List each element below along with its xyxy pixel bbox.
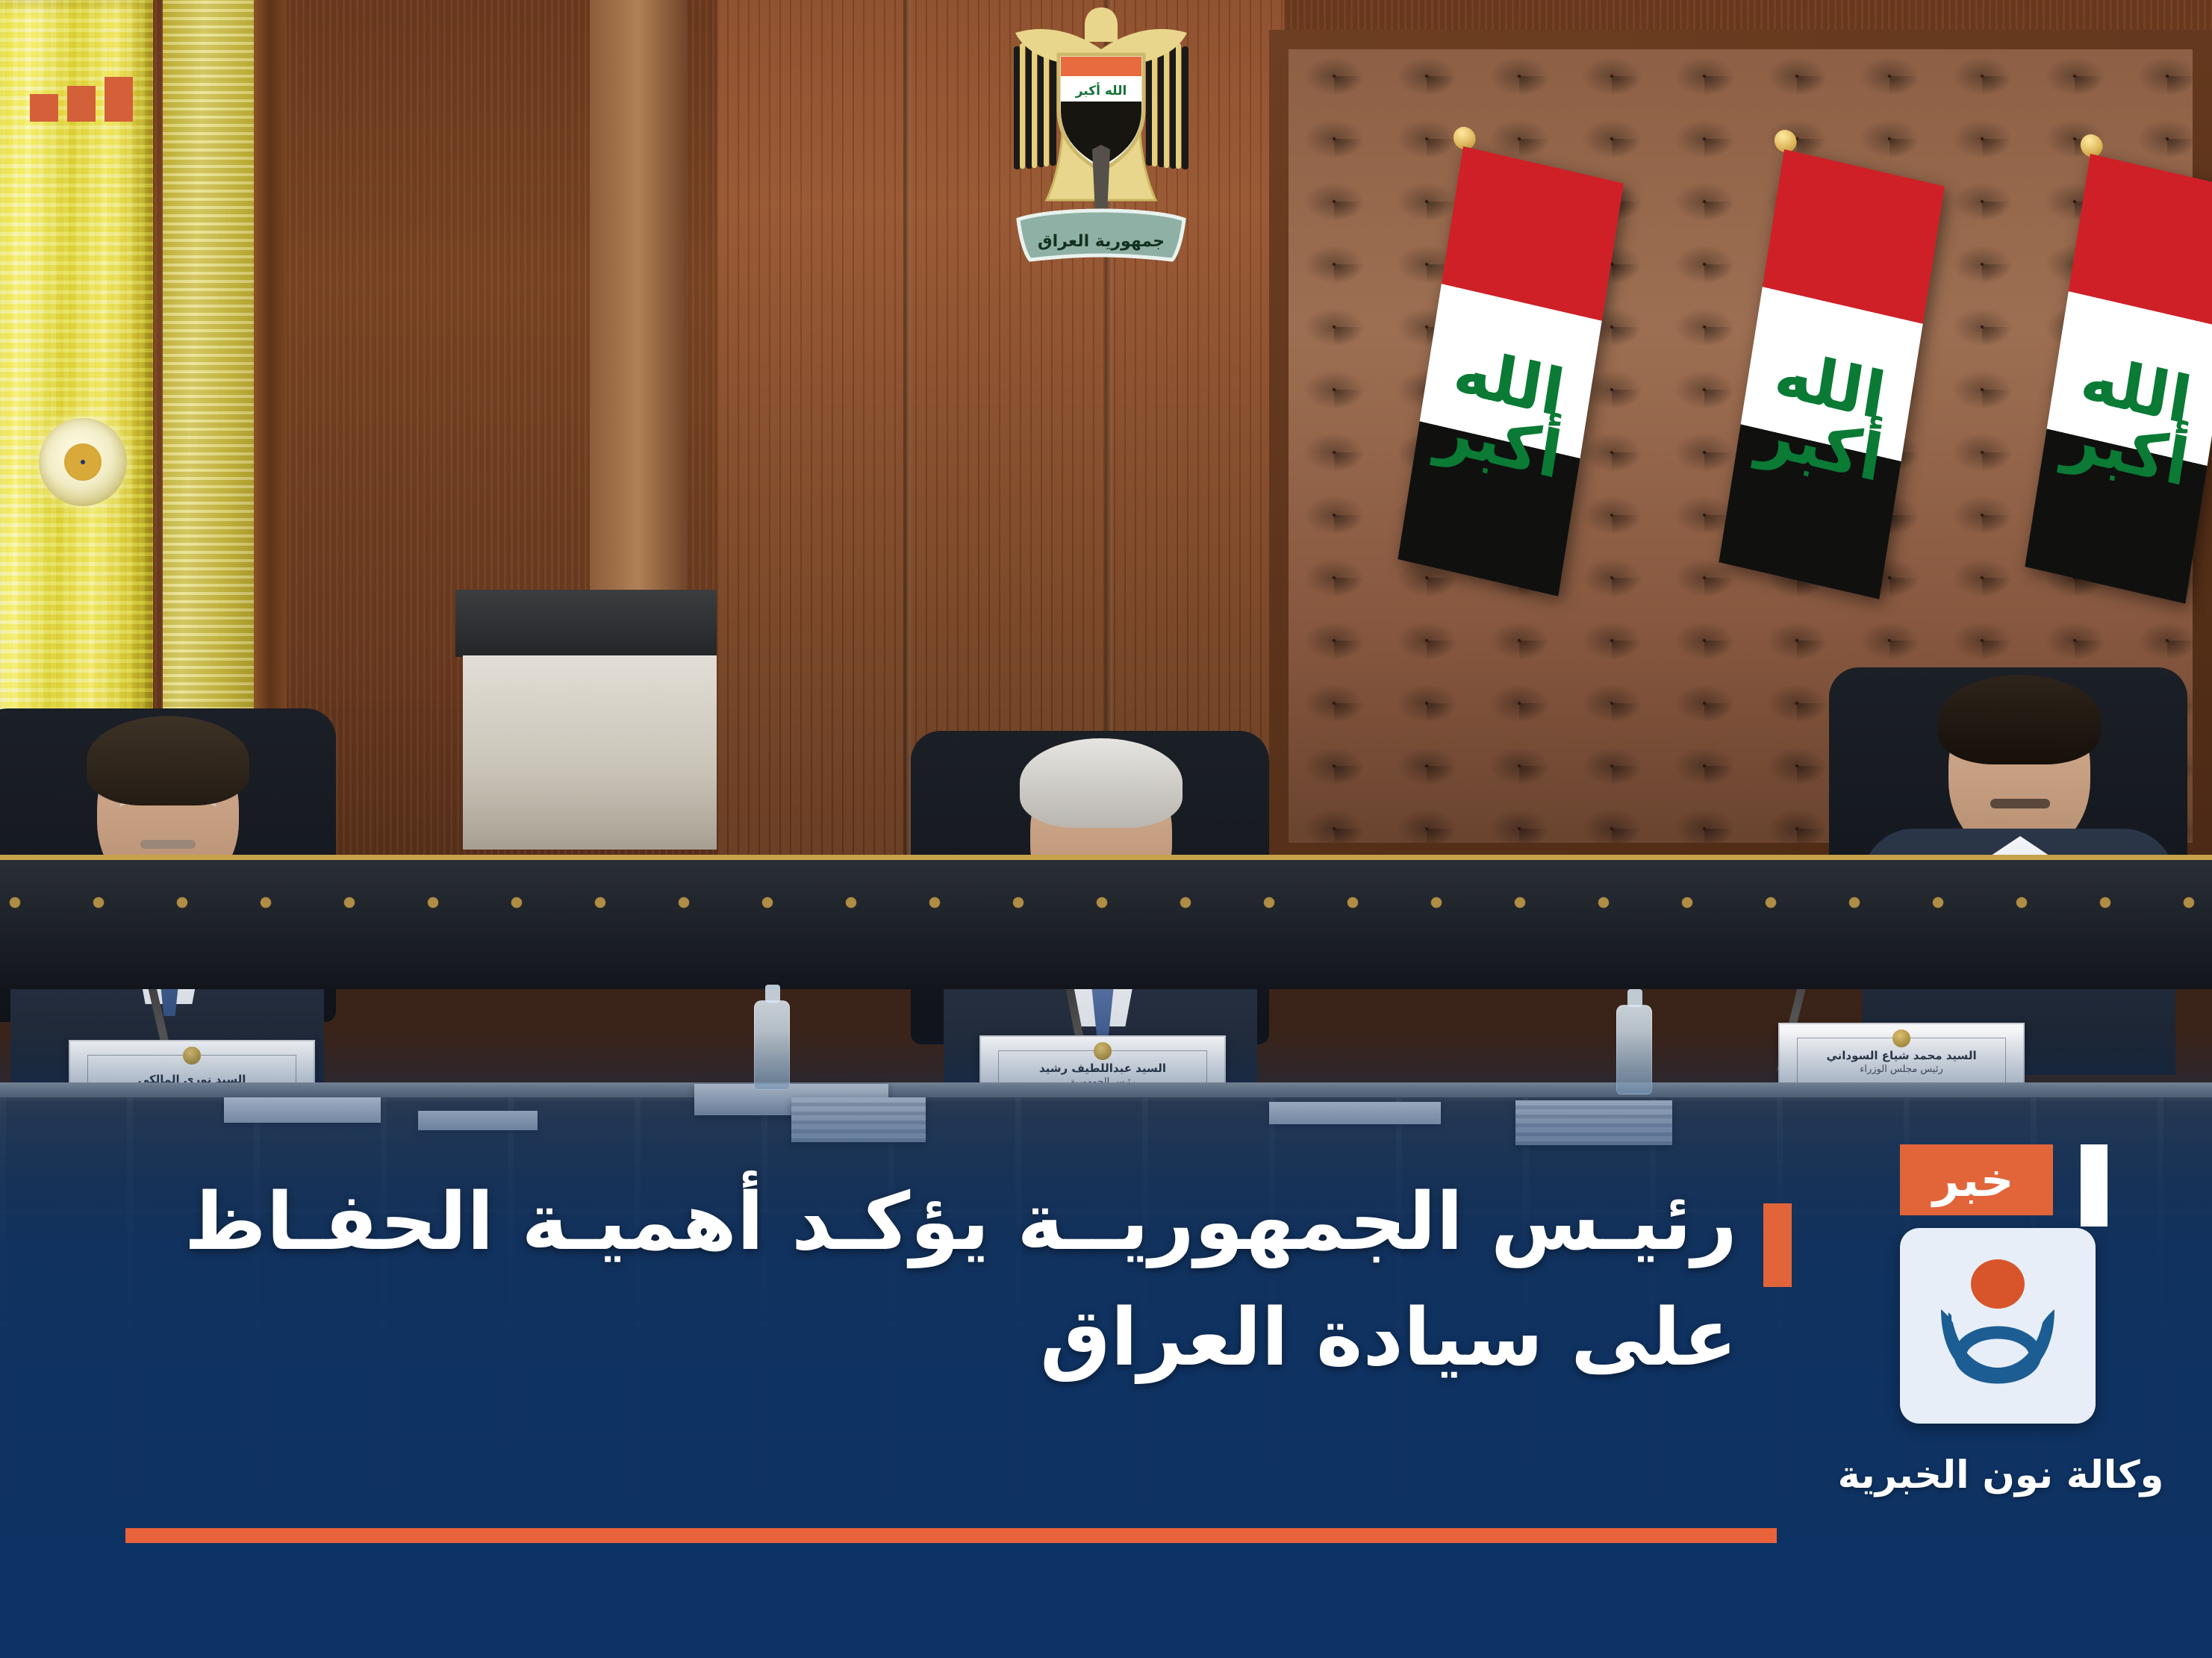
headline-line-1: رئيـس الجمهوريــة يؤكـد أهميـة الحفـاظ: [513, 1165, 1737, 1280]
agency-name: وكالة نون الخبرية: [1814, 1452, 2187, 1500]
pillar-base: [455, 590, 754, 657]
footer-rule: [125, 1528, 1777, 1543]
three-bar-watermark-icon: [30, 77, 133, 122]
headline: رئيـس الجمهوريــة يؤكـد أهميـة الحفـاظ ع…: [513, 1165, 1737, 1396]
news-card: الله أكبر جمهورية العراق الله أكبر الله …: [0, 0, 2212, 1658]
noon-agency-logo-icon: [1923, 1251, 2072, 1400]
headline-line-2: على سيادة العراق: [513, 1280, 1737, 1396]
hair: [87, 716, 249, 805]
svg-text:جمهورية العراق: جمهورية العراق: [1038, 232, 1165, 251]
watermark-bar-3: [30, 94, 58, 122]
wall-pillar: [590, 0, 687, 672]
pillar-marble: [463, 655, 747, 850]
rosette-medallion-icon: [39, 418, 127, 506]
flag-takbir-text: الله أكبر: [2042, 342, 2212, 499]
dais-front: [0, 855, 2212, 989]
watermark-bar-2: [67, 86, 96, 122]
panel-seam: [903, 0, 911, 858]
headline-accent-bar: [1763, 1203, 1792, 1287]
dais-studs: [0, 885, 2212, 920]
news-badge: خبر: [1900, 1144, 2053, 1215]
moustache: [140, 840, 196, 849]
news-badge-tick: [2081, 1144, 2107, 1227]
news-badge-label: خبر: [1933, 1157, 2014, 1203]
flag-takbir-text: الله أكبر: [1736, 337, 1915, 495]
hair: [1020, 738, 1183, 828]
agency-logo: [1900, 1228, 2096, 1424]
flag-takbir-text: الله أكبر: [1415, 334, 1594, 492]
iraq-coat-of-arms-icon: الله أكبر جمهورية العراق: [993, 7, 1209, 276]
moustache: [1990, 799, 2050, 808]
watermark-bar-1: [105, 77, 133, 122]
blue-solid-footer: [0, 1531, 2212, 1658]
gold-ornate-door-panel-secondary: [163, 0, 254, 825]
svg-text:الله أكبر: الله أكبر: [1075, 82, 1127, 99]
hair: [1938, 675, 2101, 764]
